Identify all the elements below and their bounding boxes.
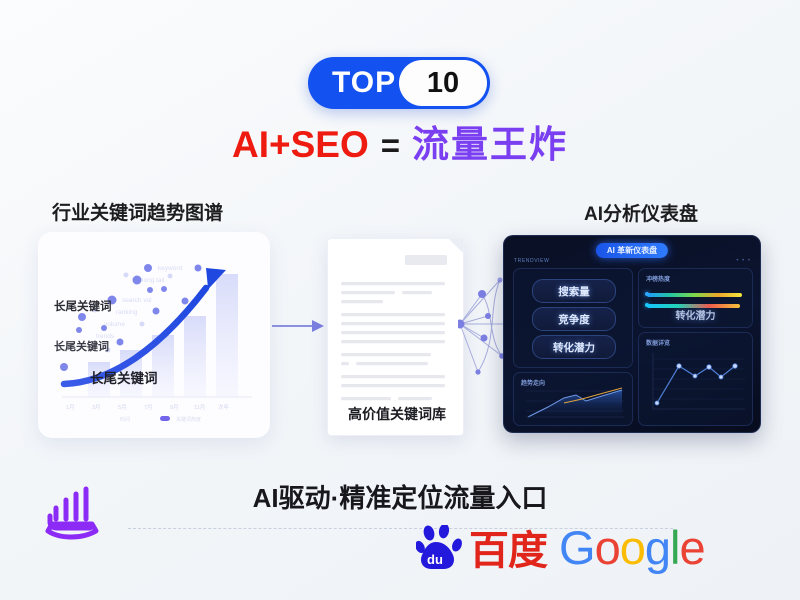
title-part-aiseo: AI+SEO	[232, 124, 369, 165]
dashboard-title-badge: AI 革新仪表盘	[596, 243, 668, 258]
google-letter-e: e	[679, 521, 704, 574]
top-rank-badge: TOP 10	[308, 57, 490, 109]
metric-pill-conversion[interactable]: 转化潜力	[532, 335, 616, 359]
svg-text:keyword: keyword	[158, 265, 183, 272]
keyword-trend-card: keyword long tail search vol ranking vol…	[38, 232, 270, 438]
dashboard-brand-label: TRENDVIEW	[514, 258, 549, 264]
baidu-logo: du 百度	[416, 525, 547, 571]
bar-chart-icon	[42, 483, 108, 543]
title-equals-sign: =	[381, 127, 400, 164]
svg-text:9月: 9月	[170, 404, 179, 411]
flow-arrow-icon	[272, 318, 324, 334]
top-badge-number-pill: 10	[399, 60, 487, 106]
svg-text:du: du	[427, 552, 443, 567]
svg-text:11月: 11月	[194, 404, 205, 411]
trend-label-1: 长尾关键词	[54, 298, 112, 314]
svg-text:volume: volume	[104, 321, 125, 328]
google-logo: Google	[559, 524, 705, 571]
svg-text:7月: 7月	[144, 404, 153, 411]
search-engine-logos: du 百度 Google	[416, 524, 705, 571]
heat-index-title: 冲榜热度	[646, 274, 670, 283]
left-section-caption: 行业关键词趋势图谱	[52, 198, 223, 225]
metric-pill-search-volume[interactable]: 搜索量	[532, 279, 616, 303]
top-badge-label: TOP	[332, 68, 396, 98]
data-detail-title: 数据详览	[646, 338, 670, 347]
slide-canvas: TOP 10 AI+SEO=流量王炸 行业关键词趋势图谱 AI分析仪表盘	[0, 0, 800, 600]
trend-label-3: 长尾关键词	[90, 367, 158, 387]
dashboard-menu-icon[interactable]: • • •	[736, 258, 751, 264]
heat-bar-2-marker	[645, 303, 649, 307]
trend-chart-svg: keyword long tail search vol ranking vol…	[38, 232, 270, 438]
google-letter-o1: o	[595, 521, 620, 574]
svg-text:3月: 3月	[92, 404, 101, 411]
right-section-caption: AI分析仪表盘	[584, 199, 698, 226]
baidu-logo-text: 百度	[469, 531, 547, 571]
svg-text:次年: 次年	[218, 403, 230, 411]
heat-index-panel: 冲榜热度 转化潜力	[638, 268, 753, 328]
page-title: AI+SEO=流量王炸	[0, 126, 800, 163]
metrics-panel: 搜索量 竞争度 转化潜力	[513, 268, 633, 368]
svg-text:1月: 1月	[66, 404, 75, 411]
heat-bar-1-marker	[645, 292, 649, 296]
svg-text:关键词热度: 关键词热度	[176, 416, 201, 423]
title-part-traffic: 流量王炸	[412, 124, 568, 165]
trend-label-2: 长尾关键词	[54, 338, 109, 354]
svg-text:时间: 时间	[120, 416, 130, 423]
ai-dashboard-card: AI 革新仪表盘 TRENDVIEW • • • 搜索量 竞争度 转化潜力 趋势…	[503, 235, 761, 433]
document-caption: 高价值关键词库	[331, 404, 463, 424]
svg-text:long tail: long tail	[142, 277, 165, 284]
trend-area-panel: 趋势走向	[513, 372, 633, 426]
google-letter-o2: o	[620, 521, 645, 574]
top-badge-number: 10	[427, 69, 459, 98]
conversion-potential-overlay: 转化潜力	[639, 307, 752, 322]
google-letter-g2: g	[645, 521, 670, 574]
trend-area-panel-title: 趋势走向	[521, 378, 545, 387]
heat-gradient-bar-1	[647, 293, 742, 297]
google-letter-g1: G	[559, 521, 595, 574]
svg-text:search vol: search vol	[122, 297, 152, 304]
baidu-paw-icon: du	[416, 525, 468, 571]
metric-pill-competition[interactable]: 竞争度	[532, 307, 616, 331]
footer-tagline: AI驱动·精准定位流量入口	[0, 478, 800, 515]
svg-text:5月: 5月	[118, 404, 127, 411]
svg-text:ranking: ranking	[116, 309, 138, 316]
document-fold-corner	[449, 239, 463, 253]
data-detail-panel: 数据详览	[638, 332, 753, 426]
